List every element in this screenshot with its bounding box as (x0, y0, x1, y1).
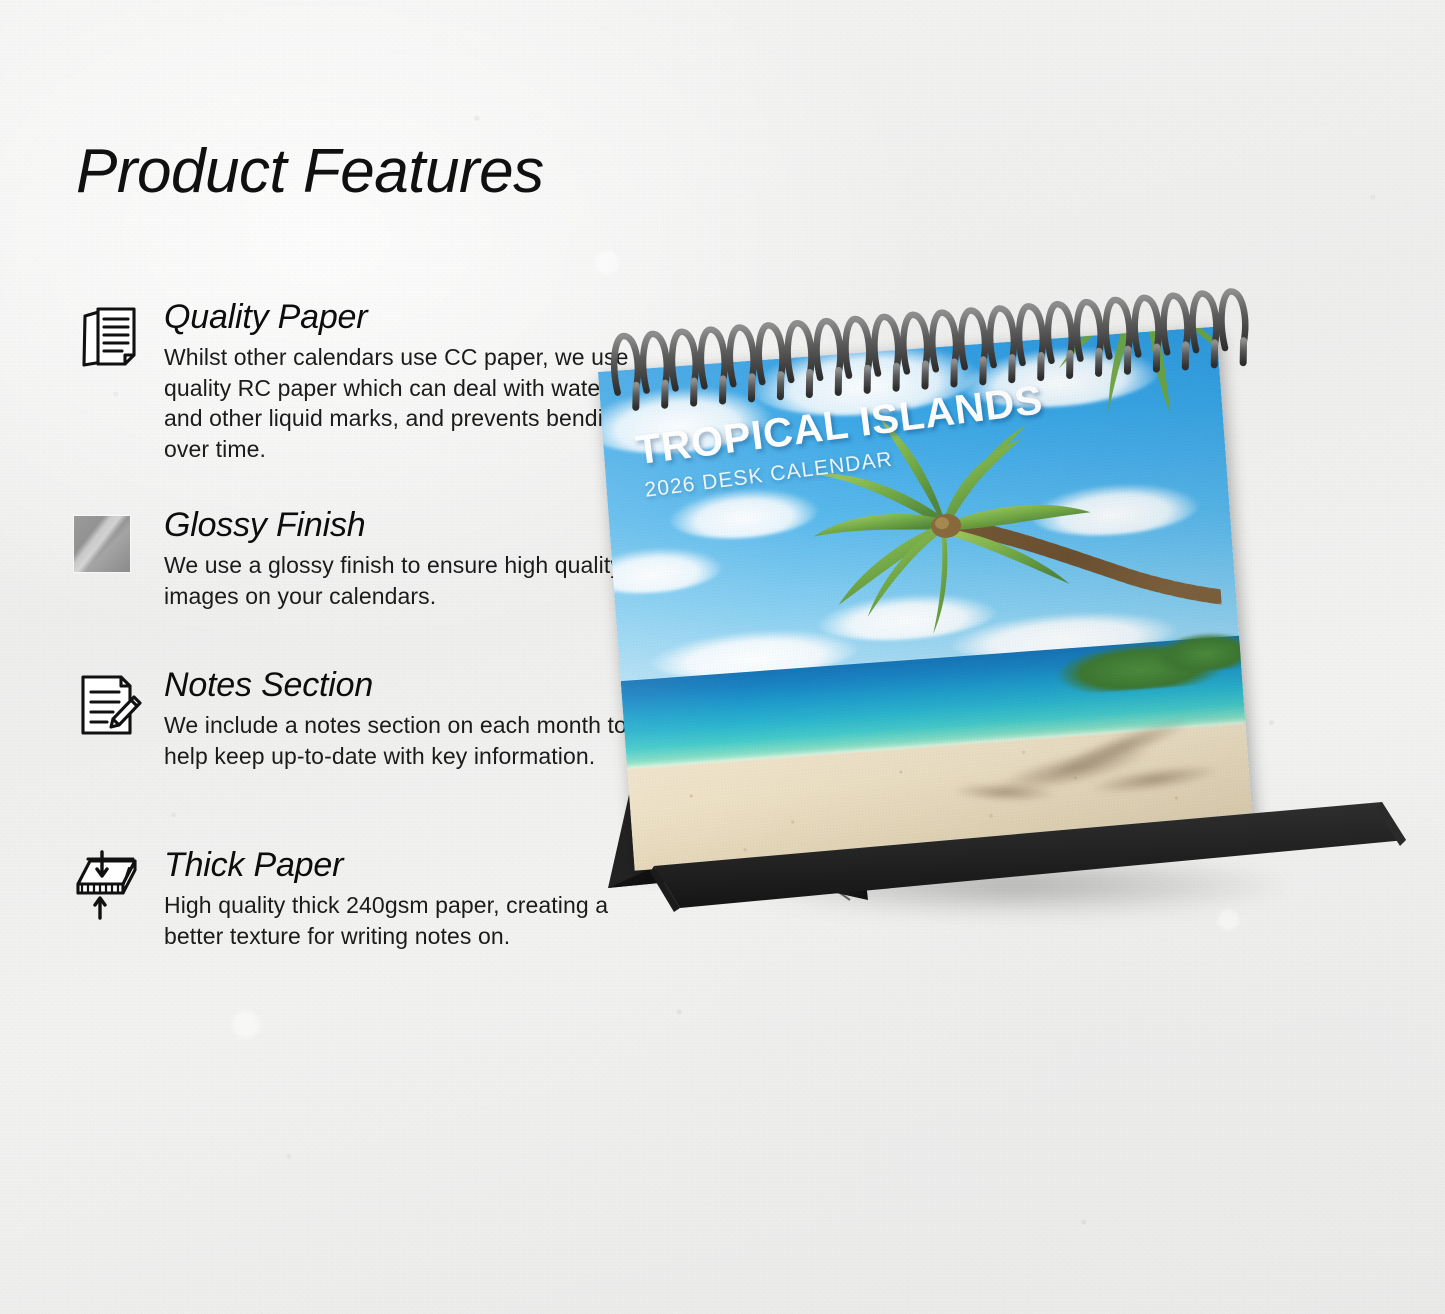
feature-body: We use a glossy finish to ensure high qu… (164, 550, 632, 612)
feature-body: High quality thick 240gsm paper, creatin… (164, 890, 632, 952)
feature-heading: Thick Paper (164, 848, 632, 884)
feature-text-block: Glossy Finish We use a glossy finish to … (164, 508, 632, 611)
feature-item-thick-paper: Thick Paper High quality thick 240gsm pa… (72, 848, 632, 951)
thick-slab-icon (72, 848, 146, 922)
product-features-infographic: Product Features Quality Paper Whilst ot… (0, 0, 1445, 1314)
feature-text-block: Quality Paper Whilst other calendars use… (164, 300, 632, 465)
calendar-base-foot (640, 800, 1430, 930)
feature-body: Whilst other calendars use CC paper, we … (164, 342, 632, 465)
page-title: Product Features (76, 136, 544, 207)
note-pencil-icon (72, 668, 146, 742)
feature-body: We include a notes section on each month… (164, 710, 632, 772)
feature-text-block: Notes Section We include a notes section… (164, 668, 632, 771)
feature-heading: Glossy Finish (164, 508, 632, 544)
feature-heading: Notes Section (164, 668, 632, 704)
feature-item-notes-section: Notes Section We include a notes section… (72, 668, 632, 771)
feature-item-glossy-finish: Glossy Finish We use a glossy finish to … (72, 508, 632, 611)
glossy-swatch-icon (72, 508, 146, 582)
feature-heading: Quality Paper (164, 300, 632, 336)
distant-treeline (1138, 620, 1253, 675)
feature-text-block: Thick Paper High quality thick 240gsm pa… (164, 848, 632, 951)
feature-item-quality-paper: Quality Paper Whilst other calendars use… (72, 300, 632, 465)
stacked-paper-icon (72, 300, 146, 374)
